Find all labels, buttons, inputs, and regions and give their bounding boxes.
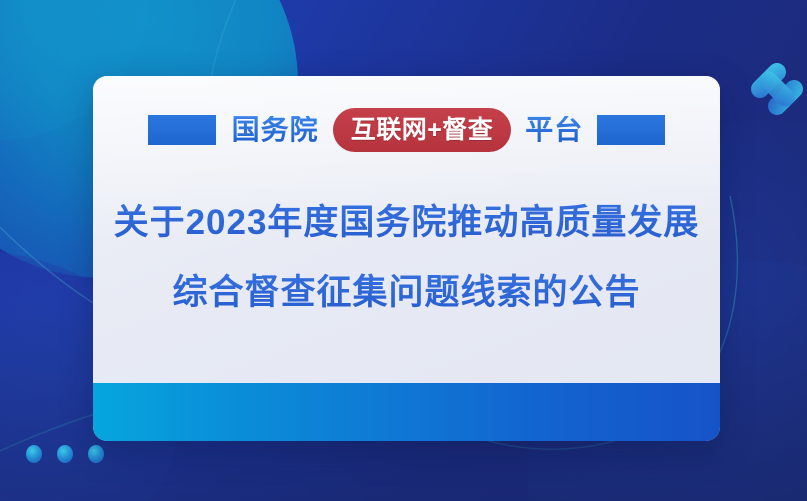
title-line-1: 关于2023年度国务院推动高质量发展 (93, 188, 720, 258)
announcement-card[interactable]: 国务院 互联网+督查 平台 关于2023年度国务院推动高质量发展 综合督查征集问… (93, 76, 720, 441)
platform-header: 国务院 互联网+督查 平台 (93, 106, 720, 154)
announcement-title: 关于2023年度国务院推动高质量发展 综合督查征集问题线索的公告 (93, 188, 720, 328)
banner-stage: 国务院 互联网+督查 平台 关于2023年度国务院推动高质量发展 综合督查征集问… (0, 0, 807, 501)
diamond-logo-icon (748, 60, 806, 118)
decorative-dot (57, 445, 73, 463)
internet-supervision-badge[interactable]: 互联网+督查 (333, 108, 512, 152)
header-decorative-block-left (148, 115, 216, 145)
title-line-2: 综合督查征集问题线索的公告 (93, 258, 720, 328)
decorative-dot (88, 445, 104, 463)
decorative-dot (26, 445, 42, 463)
header-decorative-block-right (597, 115, 665, 145)
platform-suffix-label: 平台 (525, 116, 583, 144)
platform-owner-label: 国务院 (232, 116, 319, 144)
card-bottom-gradient-bar (93, 383, 720, 441)
decorative-dots (26, 445, 104, 463)
